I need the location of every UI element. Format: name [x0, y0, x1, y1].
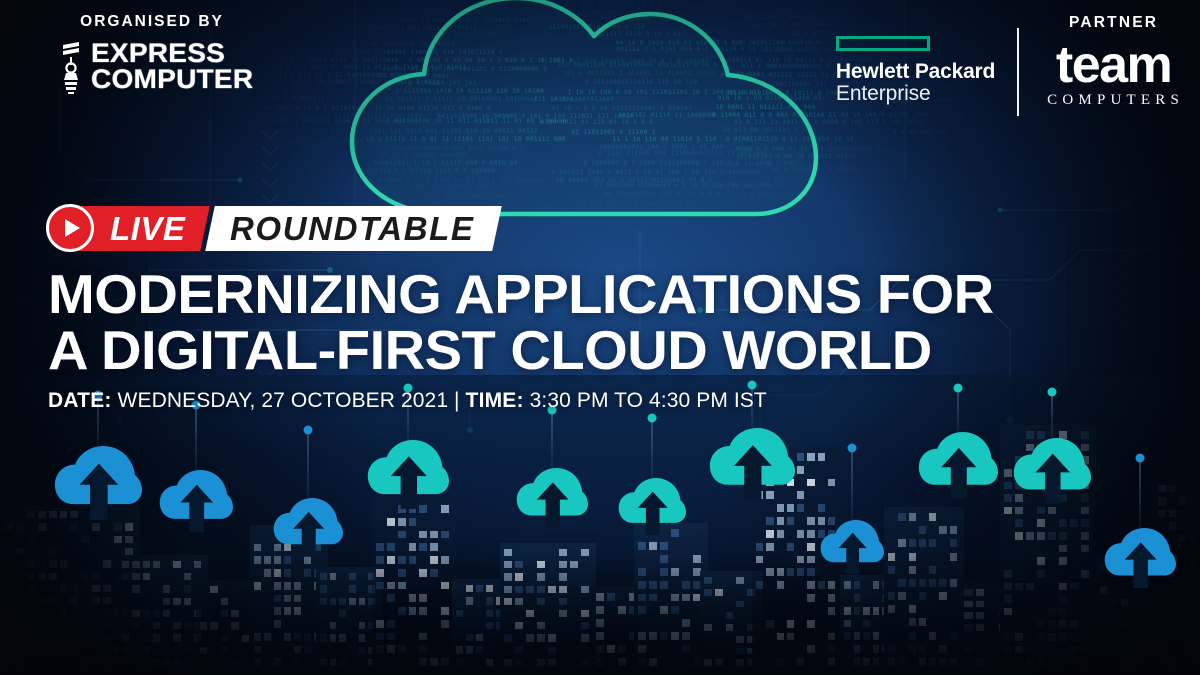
date-label: DATE: [48, 389, 112, 412]
hanging-wire [1140, 458, 1141, 528]
partner-name: team [1043, 44, 1184, 87]
cloud-upload-icon [918, 432, 998, 499]
organised-by-label: ORGANISED BY [22, 14, 282, 30]
date-value: WEDNESDAY, 27 OCTOBER 2021 [118, 389, 449, 412]
roundtable-label-chip: ROUNDTABLE [206, 206, 502, 251]
sponsor-name-line1: Hewlett Packard [836, 61, 995, 83]
play-triangle-icon[interactable] [46, 204, 94, 252]
express-computer-logo: EXPRESS COMPUTER [22, 40, 282, 94]
wire-knob [954, 384, 963, 393]
wire-knob [648, 414, 657, 423]
hanging-cloud [1013, 392, 1091, 516]
roundtable-label: ROUNDTABLE [230, 212, 475, 245]
organiser-block: ORGANISED BY EXPRESS COMPUTER [22, 14, 282, 94]
partner-subtitle: COMPUTERS [1043, 92, 1184, 109]
logo-divider [1017, 28, 1019, 116]
hanging-cloud [618, 418, 686, 546]
cloud-upload-icon [516, 468, 588, 528]
event-banner: 1100011 0 0 1110 0001100 10 100101111110… [0, 0, 1200, 675]
time-label: TIME: [466, 389, 524, 412]
cloud-upload-icon [1104, 528, 1176, 588]
title-line-1: MODERNIZING APPLICATIONS FOR [48, 266, 1170, 322]
wire-knob [1048, 388, 1057, 397]
wire-knob [848, 444, 857, 453]
time-value: 3:30 PM TO 4:30 PM IST [530, 389, 767, 412]
hanging-cloud [159, 405, 233, 544]
cloud-upload-icon [618, 478, 686, 535]
pen-nib-icon [57, 40, 83, 94]
hanging-wire [1052, 392, 1053, 438]
cloud-upload-icon [1013, 438, 1091, 504]
organiser-name-line2: COMPUTER [91, 67, 253, 93]
cloud-upload-icon [54, 446, 142, 520]
wire-knob [304, 426, 313, 435]
partner-label: PARTNER [1043, 14, 1184, 32]
cloud-upload-icon [367, 440, 449, 509]
sponsor-name-line2: Enterprise [836, 83, 995, 105]
hpe-rectangle-icon [836, 36, 930, 51]
cloud-upload-icon [273, 498, 343, 557]
hanging-wire [652, 418, 653, 478]
live-roundtable-badge: LIVE ROUNDTABLE [46, 203, 497, 253]
cloud-upload-icon [709, 428, 795, 500]
wire-knob [1136, 454, 1145, 463]
team-computers-logo: PARTNER team COMPUTERS [1043, 10, 1184, 109]
datetime-separator: | [454, 389, 460, 412]
hanging-cloud [516, 410, 588, 540]
page-title: MODERNIZING APPLICATIONS FOR A DIGITAL-F… [48, 266, 1170, 378]
hanging-wire [552, 410, 553, 468]
cloud-upload-icon [159, 470, 233, 532]
hanging-cloud [54, 395, 142, 534]
live-label: LIVE [110, 212, 185, 245]
hanging-cloud [918, 388, 998, 512]
hanging-wire [958, 388, 959, 432]
title-line-2: A DIGITAL-FIRST CLOUD WORLD [48, 322, 1170, 378]
hanging-cloud [820, 448, 884, 584]
hanging-wire [852, 448, 853, 520]
cloud-upload-icon [820, 520, 884, 574]
hanging-cloud [273, 430, 343, 568]
partner-block: Hewlett Packard Enterprise PARTNER team … [836, 10, 1184, 116]
hanging-wire [196, 405, 197, 470]
hpe-logo: Hewlett Packard Enterprise [836, 36, 995, 106]
event-datetime: DATE: WEDNESDAY, 27 OCTOBER 2021 | TIME:… [48, 390, 767, 411]
hanging-cloud [1104, 458, 1176, 600]
hanging-wire [308, 430, 309, 498]
